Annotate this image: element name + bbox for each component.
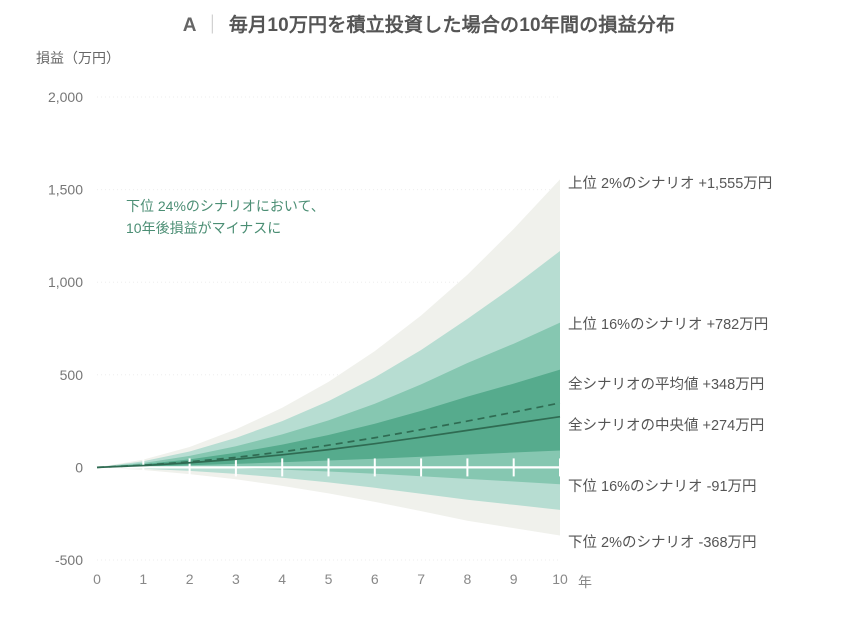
fan-chart-plot: 2,0001,5001,0005000-500 012345678910 [0,0,858,620]
x-tick-label: 0 [93,571,101,587]
scenario-label-p98: 上位 2%のシナリオ +1,555万円 [568,172,772,193]
y-tick-label: 0 [75,459,83,475]
x-tick-label: 5 [325,571,333,587]
y-tick-labels-group: 2,0001,5001,0005000-500 [48,89,83,568]
x-tick-label: 3 [232,571,240,587]
scenario-label-mean: 全シナリオの平均値 +348万円 [568,373,764,394]
scenario-label-p2: 下位 2%のシナリオ -368万円 [568,531,757,552]
x-tick-label: 2 [186,571,194,587]
x-tick-label: 4 [278,571,286,587]
y-tick-label: 1,500 [48,182,83,198]
x-tick-label: 10 [552,571,568,587]
scenario-label-p84: 上位 16%のシナリオ +782万円 [568,313,768,334]
scenario-label-p16: 下位 16%のシナリオ -91万円 [568,475,757,496]
x-tick-label: 6 [371,571,379,587]
x-tick-label: 8 [464,571,472,587]
scenario-label-median: 全シナリオの中央値 +274万円 [568,414,764,435]
x-tick-labels-group: 012345678910 [93,571,568,587]
y-tick-label: 2,000 [48,89,83,105]
y-tick-label: 500 [60,367,84,383]
x-tick-label: 9 [510,571,518,587]
x-tick-label: 7 [417,571,425,587]
x-tick-label: 1 [139,571,147,587]
y-tick-label: 1,000 [48,274,83,290]
negative-scenario-annotation: 下位 24%のシナリオにおいて、 10年後損益がマイナスに [126,196,325,239]
y-tick-label: -500 [55,552,83,568]
